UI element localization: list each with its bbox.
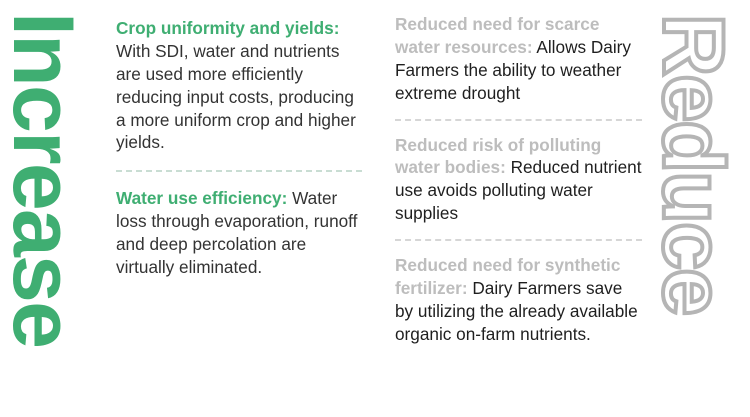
right-column: Reduced need for scarce water resources:… — [395, 0, 642, 417]
left-block-1-lead: Crop uniformity and yields: — [116, 18, 339, 38]
infographic-canvas: Increase Reduce Crop uniformity and yiel… — [0, 0, 750, 417]
vertical-heading-reduce: Reduce — [650, 14, 736, 314]
left-block-1-body: With SDI, water and nutrients are used m… — [116, 41, 356, 153]
left-block-2-lead: Water use efficiency: — [116, 188, 287, 208]
left-block-1: Crop uniformity and yields: With SDI, wa… — [116, 17, 362, 154]
right-block-1: Reduced need for scarce water resources:… — [395, 13, 642, 105]
left-divider-1 — [116, 170, 362, 172]
right-block-3: Reduced need for synthetic fertilizer: D… — [395, 254, 642, 346]
left-column: Crop uniformity and yields: With SDI, wa… — [116, 0, 362, 417]
vertical-heading-increase: Increase — [0, 12, 86, 347]
right-divider-1 — [395, 119, 642, 121]
left-block-2: Water use efficiency: Water loss through… — [116, 187, 362, 279]
right-block-2: Reduced risk of polluting water bodies: … — [395, 134, 642, 226]
right-divider-2 — [395, 239, 642, 241]
